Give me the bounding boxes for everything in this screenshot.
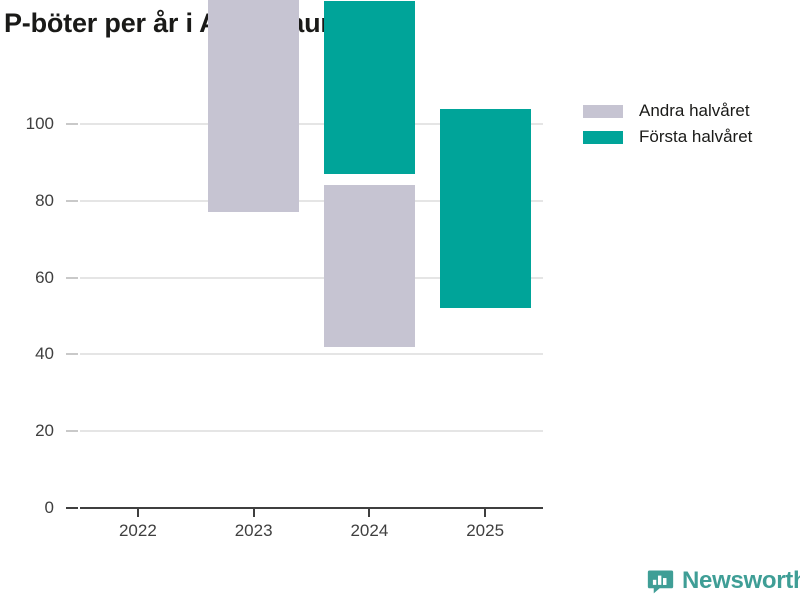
chart-legend: Andra halvåretFörsta halvåret	[583, 98, 752, 150]
legend-label: Andra halvåret	[639, 101, 750, 121]
x-axis-tick-mark	[484, 508, 486, 517]
y-axis-tick-label: 20	[35, 421, 54, 441]
x-axis-tick-label-2022: 2022	[119, 521, 157, 541]
bar-segment[interactable]	[440, 109, 531, 309]
x-axis-tick-label-2025: 2025	[466, 521, 504, 541]
legend-item[interactable]: Första halvåret	[583, 124, 752, 150]
x-axis-tick-mark	[368, 508, 370, 517]
bar-segment[interactable]	[324, 1, 415, 174]
y-axis-tick-mark	[66, 430, 78, 432]
newsworthy-logo: Newsworthy	[647, 567, 800, 595]
y-axis-tick-label: 40	[35, 344, 54, 364]
legend-label: Första halvåret	[639, 127, 752, 147]
bar-group-2023[interactable]	[208, 136, 299, 508]
y-axis-tick-mark	[66, 200, 78, 202]
legend-item[interactable]: Andra halvåret	[583, 98, 752, 124]
y-axis-tick-mark	[66, 507, 78, 509]
bar-series-layer	[80, 124, 543, 508]
bar-group-2024[interactable]	[324, 174, 415, 508]
newsworthy-wordmark: Newsworthy	[682, 567, 800, 595]
y-axis-tick-label: 80	[35, 191, 54, 211]
x-axis-tick-mark	[137, 508, 139, 517]
y-axis-tick-label: 100	[26, 114, 54, 134]
y-axis-tick-label: 0	[45, 498, 54, 518]
newsworthy-bar-chart-bubble-icon	[647, 568, 674, 595]
bar-segment[interactable]	[208, 0, 299, 212]
bar-group-2025[interactable]	[440, 308, 531, 508]
bar-segment[interactable]	[324, 185, 415, 346]
y-axis-tick-mark	[66, 123, 78, 125]
x-axis-tick-label-2023: 2023	[235, 521, 273, 541]
y-axis-tick-label: 60	[35, 268, 54, 288]
x-axis-tick-mark	[253, 508, 255, 517]
y-axis-tick-mark	[66, 277, 78, 279]
plot-area	[80, 124, 543, 508]
legend-swatch-icon	[583, 131, 623, 144]
legend-swatch-icon	[583, 105, 623, 118]
x-axis-tick-label-2024: 2024	[350, 521, 388, 541]
y-axis-tick-mark	[66, 353, 78, 355]
